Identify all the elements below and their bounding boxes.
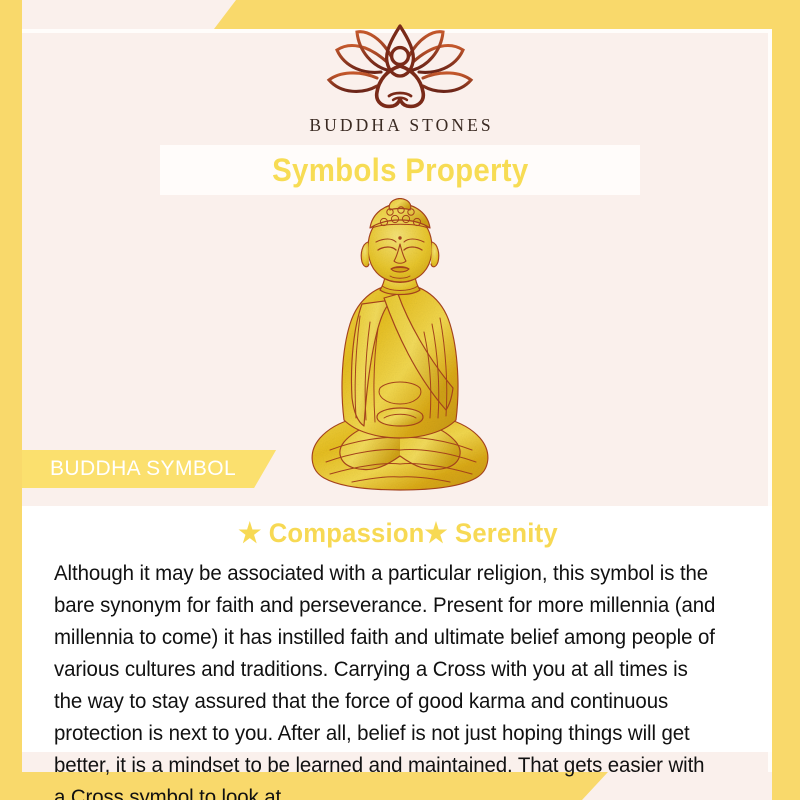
brand-logo: BUDDHA STONES bbox=[0, 22, 800, 136]
content-body-text: Although it may be associated with a par… bbox=[54, 558, 718, 800]
lotus-meditation-figure-icon bbox=[315, 22, 485, 110]
content-card: ★ Compassion★ Serenity Although it may b… bbox=[22, 506, 772, 752]
content-subtitle: ★ Compassion★ Serenity bbox=[71, 518, 725, 549]
brand-wordmark: BUDDHA STONES bbox=[0, 115, 800, 136]
title-banner: Symbols Property bbox=[160, 145, 640, 195]
category-badge-label: BUDDHA SYMBOL bbox=[50, 457, 236, 481]
category-badge: BUDDHA SYMBOL bbox=[22, 450, 276, 488]
buddha-statue-icon bbox=[300, 198, 500, 496]
page-title: Symbols Property bbox=[272, 152, 528, 189]
